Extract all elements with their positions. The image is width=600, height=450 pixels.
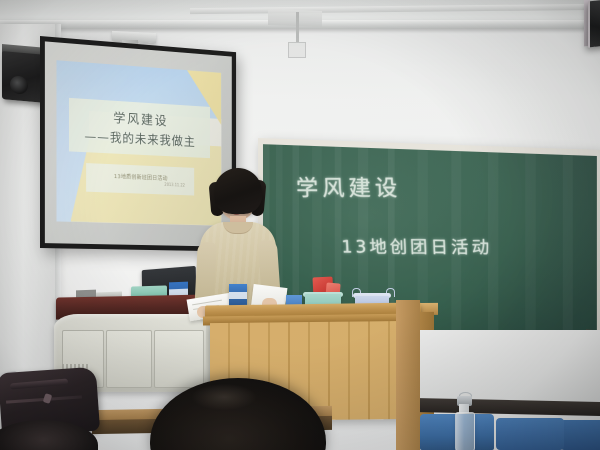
- ceiling-junction-box: [288, 42, 306, 58]
- console-panel-2: [106, 330, 152, 388]
- water-bottle: [455, 412, 475, 450]
- slide-date: 2013.11.22: [164, 182, 185, 188]
- podium-blue-box-label: [229, 292, 247, 299]
- blue-chair-3: [560, 420, 600, 450]
- blackboard-text-line2: 13地创团日活动: [341, 233, 493, 259]
- student-head-highlight: [192, 384, 256, 410]
- right-wall-lower: [414, 330, 600, 402]
- ceiling-mount-plate: [268, 9, 322, 27]
- slide-title-sub: ——我的未来我做主: [84, 126, 195, 150]
- presenter-hair: [214, 168, 262, 214]
- console-panel-3: [154, 330, 204, 388]
- classroom-photo-scene: 学风建设 ——我的未来我做主 13地质创新班团日活动 2013.11.22 学风…: [0, 0, 600, 450]
- door-frame: [396, 300, 420, 450]
- wall-speaker-right-icon: [588, 0, 600, 47]
- slide-caption: 13地质创新班团日活动: [114, 172, 168, 182]
- slide-caption-box: 13地质创新班团日活动 2013.11.22: [86, 163, 194, 196]
- blue-chair-2: [496, 418, 564, 450]
- slide-title-main: 学风建设: [113, 108, 168, 130]
- blackboard-text-line1: 学风建设: [295, 170, 401, 202]
- slide-title-box: 学风建设 ——我的未来我做主: [69, 98, 210, 158]
